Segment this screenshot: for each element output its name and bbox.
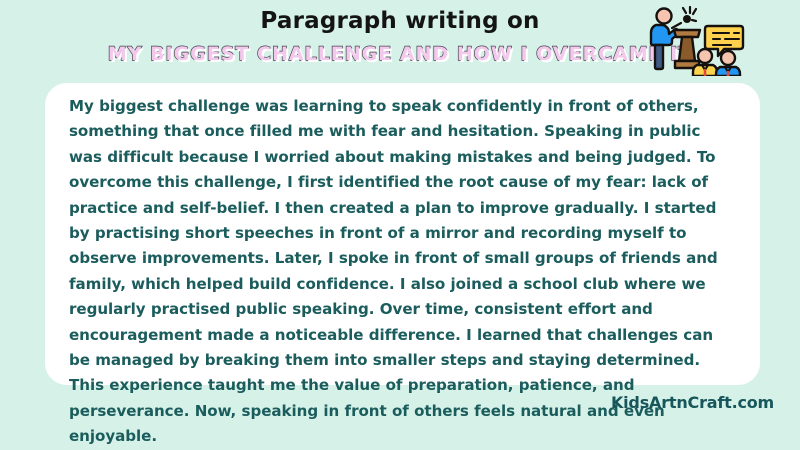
poster-root: Paragraph writing on MY BIGGEST CHALLENG… <box>0 0 800 420</box>
public-speaking-icon <box>646 4 758 76</box>
paragraph-card: My biggest challenge was learning to spe… <box>45 83 760 385</box>
footer-brand: KidsArtnCraft.com <box>611 393 774 412</box>
public-speaking-illustration <box>646 4 758 76</box>
